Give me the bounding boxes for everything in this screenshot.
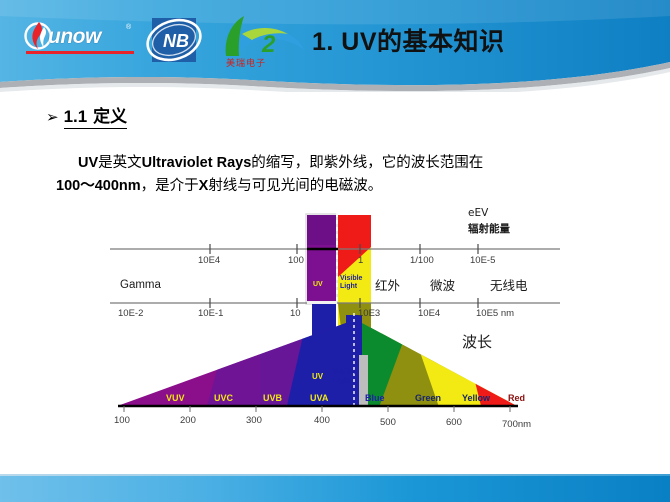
region-uv: UV bbox=[313, 281, 323, 289]
energy-tick-2: 1 bbox=[358, 255, 363, 266]
spectrum-figure: eEV 辐射能量 10E4 100 1 1/100 10E-5 Gamma UV… bbox=[110, 205, 560, 440]
region-infrared: 红外 bbox=[375, 275, 400, 294]
par-x: X bbox=[199, 178, 209, 194]
svg-text:NB: NB bbox=[163, 31, 189, 51]
band-label-vuv: VUV bbox=[166, 393, 185, 403]
wavelength-tick-1: 10E-1 bbox=[198, 308, 223, 319]
energy-tick-3: 1/100 bbox=[410, 255, 434, 266]
x-tick-700: 700nm bbox=[502, 419, 531, 430]
page-title-number: 1. UV bbox=[312, 28, 377, 56]
energy-axis-unit: eEV bbox=[468, 207, 488, 219]
x-tick-400: 400 bbox=[314, 415, 330, 426]
triangle-visible-label-2: Light bbox=[332, 377, 352, 385]
wavelength-tick-2: 10 bbox=[290, 308, 301, 319]
par-uv: UV bbox=[78, 155, 98, 171]
logo-unow-underline bbox=[26, 51, 134, 54]
section-number: 1.1 bbox=[64, 107, 88, 126]
x-tick-300: 300 bbox=[246, 415, 262, 426]
band-label-uvb: UVB bbox=[263, 393, 282, 403]
par-line2-b: ，是介于 bbox=[141, 178, 199, 194]
par-range: 100～400nm bbox=[56, 178, 141, 194]
logo-unow-wordmark: unow bbox=[48, 25, 101, 49]
x-tick-100: 100 bbox=[114, 415, 130, 426]
logo-meirui-cn: 美瑞电子 bbox=[226, 56, 266, 69]
par-ultraviolet-rays: Ultraviolet Rays bbox=[142, 155, 252, 171]
page-title: 1. UV的基本知识 bbox=[312, 22, 505, 58]
x-tick-600: 600 bbox=[446, 417, 462, 428]
footer-bar bbox=[0, 476, 670, 502]
wavelength-tick-0: 10E-2 bbox=[118, 308, 143, 319]
logo-unow: unow ® bbox=[22, 18, 138, 62]
energy-axis-title: 辐射能量 bbox=[468, 221, 510, 236]
region-gamma: Gamma bbox=[120, 279, 161, 291]
triangle-uv-label: UV bbox=[312, 373, 323, 381]
par-line1-b: 是英文 bbox=[98, 155, 142, 171]
bullet-arrow-icon: ➢ bbox=[46, 108, 59, 126]
wavelength-tick-4: 10E4 bbox=[418, 308, 440, 319]
x-tick-500: 500 bbox=[380, 417, 396, 428]
logo-nb-mark: NB bbox=[146, 14, 208, 66]
x-tick-200: 200 bbox=[180, 415, 196, 426]
svg-text:2: 2 bbox=[261, 31, 276, 58]
wavelength-tick-3: 10E3 bbox=[358, 308, 380, 319]
definition-paragraph: UV是英文Ultraviolet Rays的缩写，即紫外线，它的波长范围在100… bbox=[56, 152, 626, 198]
spectrum-figure-graphic bbox=[110, 205, 560, 440]
slide-header: unow ® NB 2 美瑞电子 1. UV的基本知识 bbox=[0, 0, 670, 92]
band-label-green: Green bbox=[415, 393, 441, 403]
band-label-yellow: Yellow bbox=[462, 393, 490, 403]
page-title-cn: 的基本知识 bbox=[377, 27, 505, 56]
region-radio: 无线电 bbox=[490, 275, 528, 294]
par-line2-d: 射线与可见光间的电磁波。 bbox=[208, 178, 382, 194]
band-label-red: Red bbox=[508, 393, 525, 403]
logo-nb: NB bbox=[146, 14, 208, 66]
par-line1-d: 的缩写，即紫外线，它的波长范围在 bbox=[251, 155, 483, 171]
logo-unow-registered: ® bbox=[126, 24, 131, 31]
slide-root: unow ® NB 2 美瑞电子 1. UV的基本知识 bbox=[0, 0, 670, 502]
region-visible-light: Visible Light bbox=[340, 275, 370, 290]
energy-tick-0: 10E4 bbox=[198, 255, 220, 266]
region-microwave: 微波 bbox=[430, 275, 455, 294]
logo-meirui-mark: 2 bbox=[218, 12, 310, 58]
band-label-blue: Blue bbox=[365, 393, 385, 403]
energy-tick-1: 100 bbox=[288, 255, 304, 266]
wavelength-word: 波长 bbox=[462, 331, 492, 352]
band-label-uvc: UVC bbox=[214, 393, 233, 403]
wavelength-tick-5: 10E5 nm bbox=[476, 308, 514, 319]
energy-tick-4: 10E-5 bbox=[470, 255, 495, 266]
logo-meirui: 2 美瑞电子 bbox=[218, 12, 310, 72]
section-label: 定义 bbox=[93, 107, 127, 127]
band-label-uva: UVA bbox=[310, 393, 328, 403]
triangle-visible-label-1: Visible bbox=[332, 368, 358, 376]
section-heading: ➢1.1 定义 bbox=[46, 102, 127, 127]
